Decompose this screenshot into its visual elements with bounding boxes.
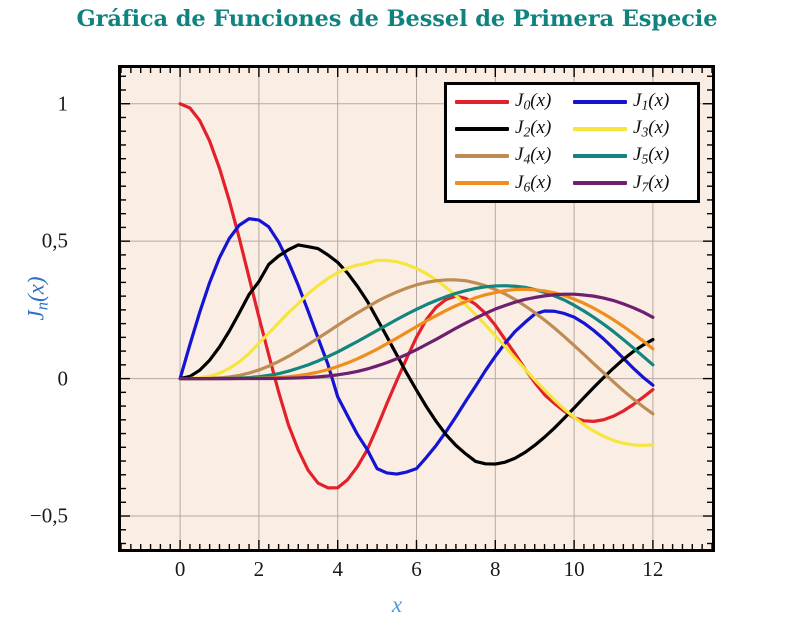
legend-swatch-icon [573,154,627,158]
legend-swatch-icon [573,127,627,131]
y-tick-label: 0 [58,366,69,391]
legend-label: J5(x) [633,144,669,167]
legend-label: J4(x) [515,144,551,167]
legend-swatch-icon [573,100,627,104]
legend-label: J6(x) [515,172,551,195]
y-axis-label-text: Jn(x) [24,276,49,320]
legend-swatch-icon [455,100,509,104]
legend-entry-j5[interactable]: J5(x) [573,144,691,167]
x-axis-label: x [0,592,794,618]
y-axis-label: Jn(x) [24,248,53,348]
x-tick-label: 8 [490,557,501,582]
x-tick-label: 10 [564,557,585,582]
legend-box[interactable]: J0(x)J1(x)J2(x)J3(x)J4(x)J5(x)J6(x)J7(x) [444,82,700,203]
legend-entry-j1[interactable]: J1(x) [573,90,691,113]
x-tick-label: 12 [642,557,663,582]
y-tick-label: 1 [58,91,69,116]
legend-entry-j2[interactable]: J2(x) [455,117,573,140]
page-title: Gráfica de Funciones de Bessel de Primer… [0,6,794,32]
x-tick-label: 6 [411,557,422,582]
x-tick-label: 0 [175,557,186,582]
legend-entry-j7[interactable]: J7(x) [573,172,691,195]
legend-swatch-icon [573,181,627,185]
legend-label: J0(x) [515,90,551,113]
legend-entry-j3[interactable]: J3(x) [573,117,691,140]
legend-label: J1(x) [633,90,669,113]
legend-swatch-icon [455,127,509,131]
legend-label: J7(x) [633,172,669,195]
legend-entry-j4[interactable]: J4(x) [455,144,573,167]
legend-label: J2(x) [515,117,551,140]
legend-swatch-icon [455,181,509,185]
x-axis-label-text: x [392,592,402,617]
x-tick-label: 2 [254,557,265,582]
legend-entry-j6[interactable]: J6(x) [455,172,573,195]
legend-label: J3(x) [633,117,669,140]
legend-entry-j0[interactable]: J0(x) [455,90,573,113]
bessel-chart-page: Gráfica de Funciones de Bessel de Primer… [0,0,794,629]
legend-swatch-icon [455,154,509,158]
y-tick-label: −0,5 [30,504,68,529]
x-tick-label: 4 [332,557,343,582]
